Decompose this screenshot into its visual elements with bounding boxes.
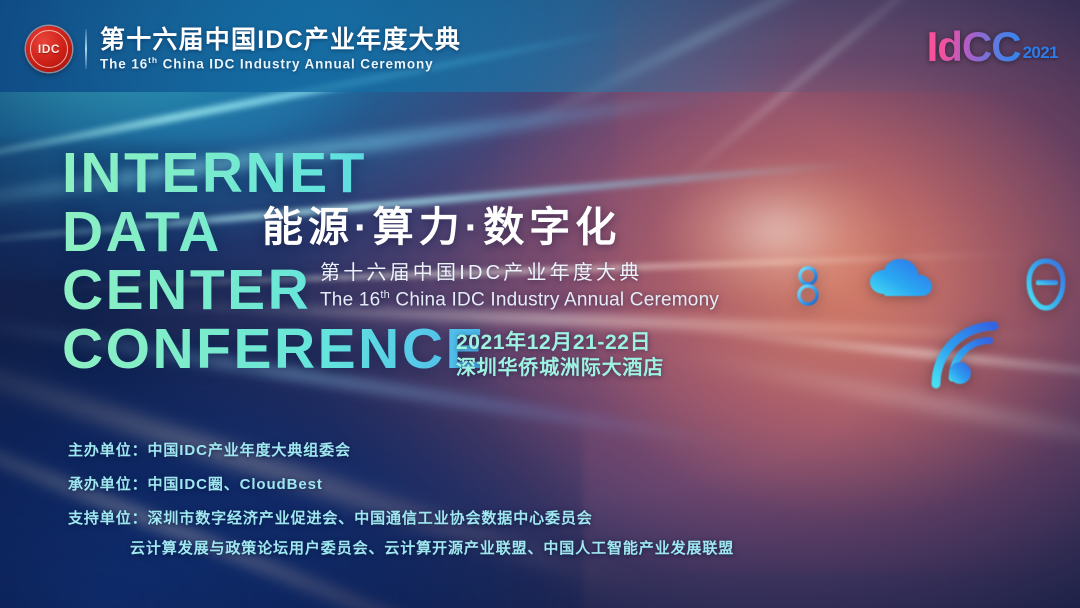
- header-text-group: 第十六届中国IDC产业年度大典 The 16th China IDC Indus…: [100, 27, 461, 71]
- organizer-list: 主办单位：中国IDC产业年度大典组委会 承办单位：中国IDC圈、CloudBes…: [68, 442, 734, 558]
- wifi-signal-icon: [928, 318, 1004, 390]
- organizer-support-continued: 云计算发展与政策论坛用户委员会、云计算开源产业联盟、中国人工智能产业发展联盟: [130, 540, 734, 558]
- idcc-logo-year: 2021: [1023, 44, 1058, 61]
- idcc-logo: IdCC 2021: [927, 28, 1058, 66]
- data-dots-icon: [795, 265, 821, 309]
- subtitle-chinese: 第十六届中国IDC产业年度大典: [320, 261, 719, 285]
- header-en-prefix: The 16: [100, 57, 148, 72]
- header-title-cn: 第十六届中国IDC产业年度大典: [100, 27, 461, 53]
- subtitle-en-prefix: The 16: [320, 289, 380, 310]
- title-line-4: CONFERENCE: [62, 320, 486, 379]
- emblem-label: IDC: [38, 43, 60, 55]
- subtitle-en-sup: th: [380, 289, 390, 301]
- chip-icon: [1026, 258, 1066, 312]
- event-details: 2021年12月21-22日 深圳华侨城洲际大酒店: [456, 330, 664, 381]
- cloud-icon: [868, 258, 934, 298]
- main-title-chinese: 能源·算力·数字化 第十六届中国IDC产业年度大典 The 16th China…: [262, 205, 719, 312]
- title-line-1: INTERNET: [62, 144, 486, 203]
- header-branding: IDC 第十六届中国IDC产业年度大典 The 16th China IDC I…: [26, 26, 461, 72]
- organizer-host: 主办单位：中国IDC产业年度大典组委会: [68, 442, 734, 460]
- idc-circle-emblem-icon: IDC: [26, 26, 72, 72]
- header-divider: [85, 29, 87, 69]
- header-title-en: The 16th China IDC Industry Annual Cerem…: [100, 56, 461, 71]
- subtitle-english: The 16th China IDC Industry Annual Cerem…: [320, 289, 719, 312]
- organizer-support: 支持单位：深圳市数字经济产业促进会、中国通信工业协会数据中心委员会: [68, 510, 734, 528]
- organizer-organizer: 承办单位：中国IDC圈、CloudBest: [68, 476, 734, 494]
- idcc-logo-word: IdCC: [927, 28, 1021, 66]
- poster-header-bar: IDC 第十六届中国IDC产业年度大典 The 16th China IDC I…: [0, 0, 1080, 92]
- subtitle-en-rest: China IDC Industry Annual Ceremony: [390, 289, 719, 310]
- slogan-chinese: 能源·算力·数字化: [262, 205, 719, 250]
- event-date: 2021年12月21-22日: [456, 330, 664, 356]
- header-en-sup: th: [148, 55, 158, 65]
- event-venue: 深圳华侨城洲际大酒店: [456, 356, 664, 381]
- conference-poster: IDC 第十六届中国IDC产业年度大典 The 16th China IDC I…: [0, 0, 1080, 608]
- header-en-rest: China IDC Industry Annual Ceremony: [158, 57, 434, 72]
